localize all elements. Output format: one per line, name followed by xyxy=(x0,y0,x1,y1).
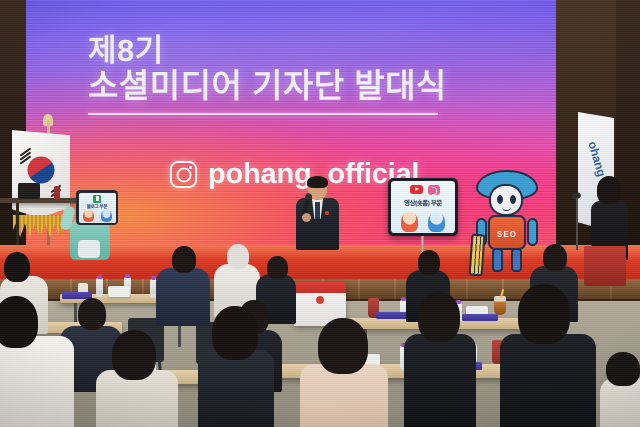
title-line-2: 소셜미디어 기자단 발대식 xyxy=(88,67,447,106)
person-head xyxy=(112,330,156,380)
person-head xyxy=(78,298,106,330)
person-head xyxy=(418,292,460,342)
placard-character xyxy=(83,210,94,222)
mascot-eye xyxy=(497,195,503,204)
mascot-leg-left xyxy=(492,248,503,272)
placard-character xyxy=(101,210,112,222)
host-hair xyxy=(597,176,621,204)
speaker-hand xyxy=(302,213,311,222)
person-head xyxy=(227,244,249,269)
video-category-screen: 영상(숏폼) 부문 xyxy=(388,178,458,236)
audience-person-foreground xyxy=(500,284,596,427)
side-table-bottle xyxy=(54,186,60,200)
mascot-bib xyxy=(78,240,100,258)
microphone-stand xyxy=(576,198,578,250)
speaker-tie xyxy=(315,202,320,219)
tv-character xyxy=(401,212,418,232)
mascot-vest: SEO xyxy=(488,215,526,250)
blog-category-placard: 블로그 부문 xyxy=(76,190,118,225)
lunch-box xyxy=(108,286,130,297)
naver-blog-icon xyxy=(93,195,101,203)
person-head xyxy=(606,352,640,386)
person-head xyxy=(518,284,570,344)
person-coat xyxy=(500,334,596,427)
mascot-eye xyxy=(510,195,516,204)
person-head xyxy=(212,306,258,360)
audience-person-foreground xyxy=(198,306,274,427)
mascot-arm-right xyxy=(527,218,538,246)
podium-speaker xyxy=(292,178,342,250)
speaker-hair xyxy=(307,176,328,188)
audience-person-foreground xyxy=(404,292,476,427)
person-head xyxy=(172,246,196,273)
podium-emblem xyxy=(316,296,324,304)
placard-screen: 블로그 부문 xyxy=(79,193,116,223)
water-bottle xyxy=(96,278,103,297)
audience-person-foreground xyxy=(300,318,388,427)
person-coat xyxy=(198,350,274,427)
blog-mascot: 블로그 부문 xyxy=(62,190,120,260)
title-underline xyxy=(88,113,438,115)
taeguk-circle xyxy=(25,154,58,187)
person-head xyxy=(543,244,567,271)
audience-person-foreground xyxy=(600,352,640,427)
mascot-prop-roll xyxy=(469,234,486,277)
audience-person-foreground xyxy=(0,296,74,427)
mascot-chest-text: SEO xyxy=(490,230,524,239)
title-line-1: 제8기 xyxy=(88,34,447,67)
mascot-leg-right xyxy=(511,248,522,272)
right-lectern xyxy=(584,246,626,286)
person-head xyxy=(418,250,440,275)
event-photo-scene: 제8기 소셜미디어 기자단 발대식 pohang_official 블로그 부문 xyxy=(0,0,640,427)
youtube-icon xyxy=(410,185,423,194)
person-head xyxy=(318,318,368,374)
person-coat xyxy=(0,336,74,427)
blog-category-text: 블로그 부문 xyxy=(79,204,116,210)
mascot-face xyxy=(489,184,523,216)
audience-person-foreground xyxy=(96,330,178,427)
lapel-pin xyxy=(325,211,329,215)
video-category-text: 영상(숏폼) 부문 xyxy=(391,198,455,207)
tv-display: 영상(숏폼) 부문 xyxy=(391,181,455,233)
side-table-equipment xyxy=(18,183,40,199)
tiktok-icon xyxy=(428,185,440,195)
person-head xyxy=(267,256,288,279)
tv-character xyxy=(428,212,445,232)
person-head xyxy=(4,252,30,282)
instagram-icon xyxy=(170,161,197,188)
person-head xyxy=(0,296,38,348)
podium-red-band xyxy=(294,282,346,293)
screen-title-block: 제8기 소셜미디어 기자단 발대식 xyxy=(88,34,447,115)
person-coat xyxy=(404,334,476,427)
